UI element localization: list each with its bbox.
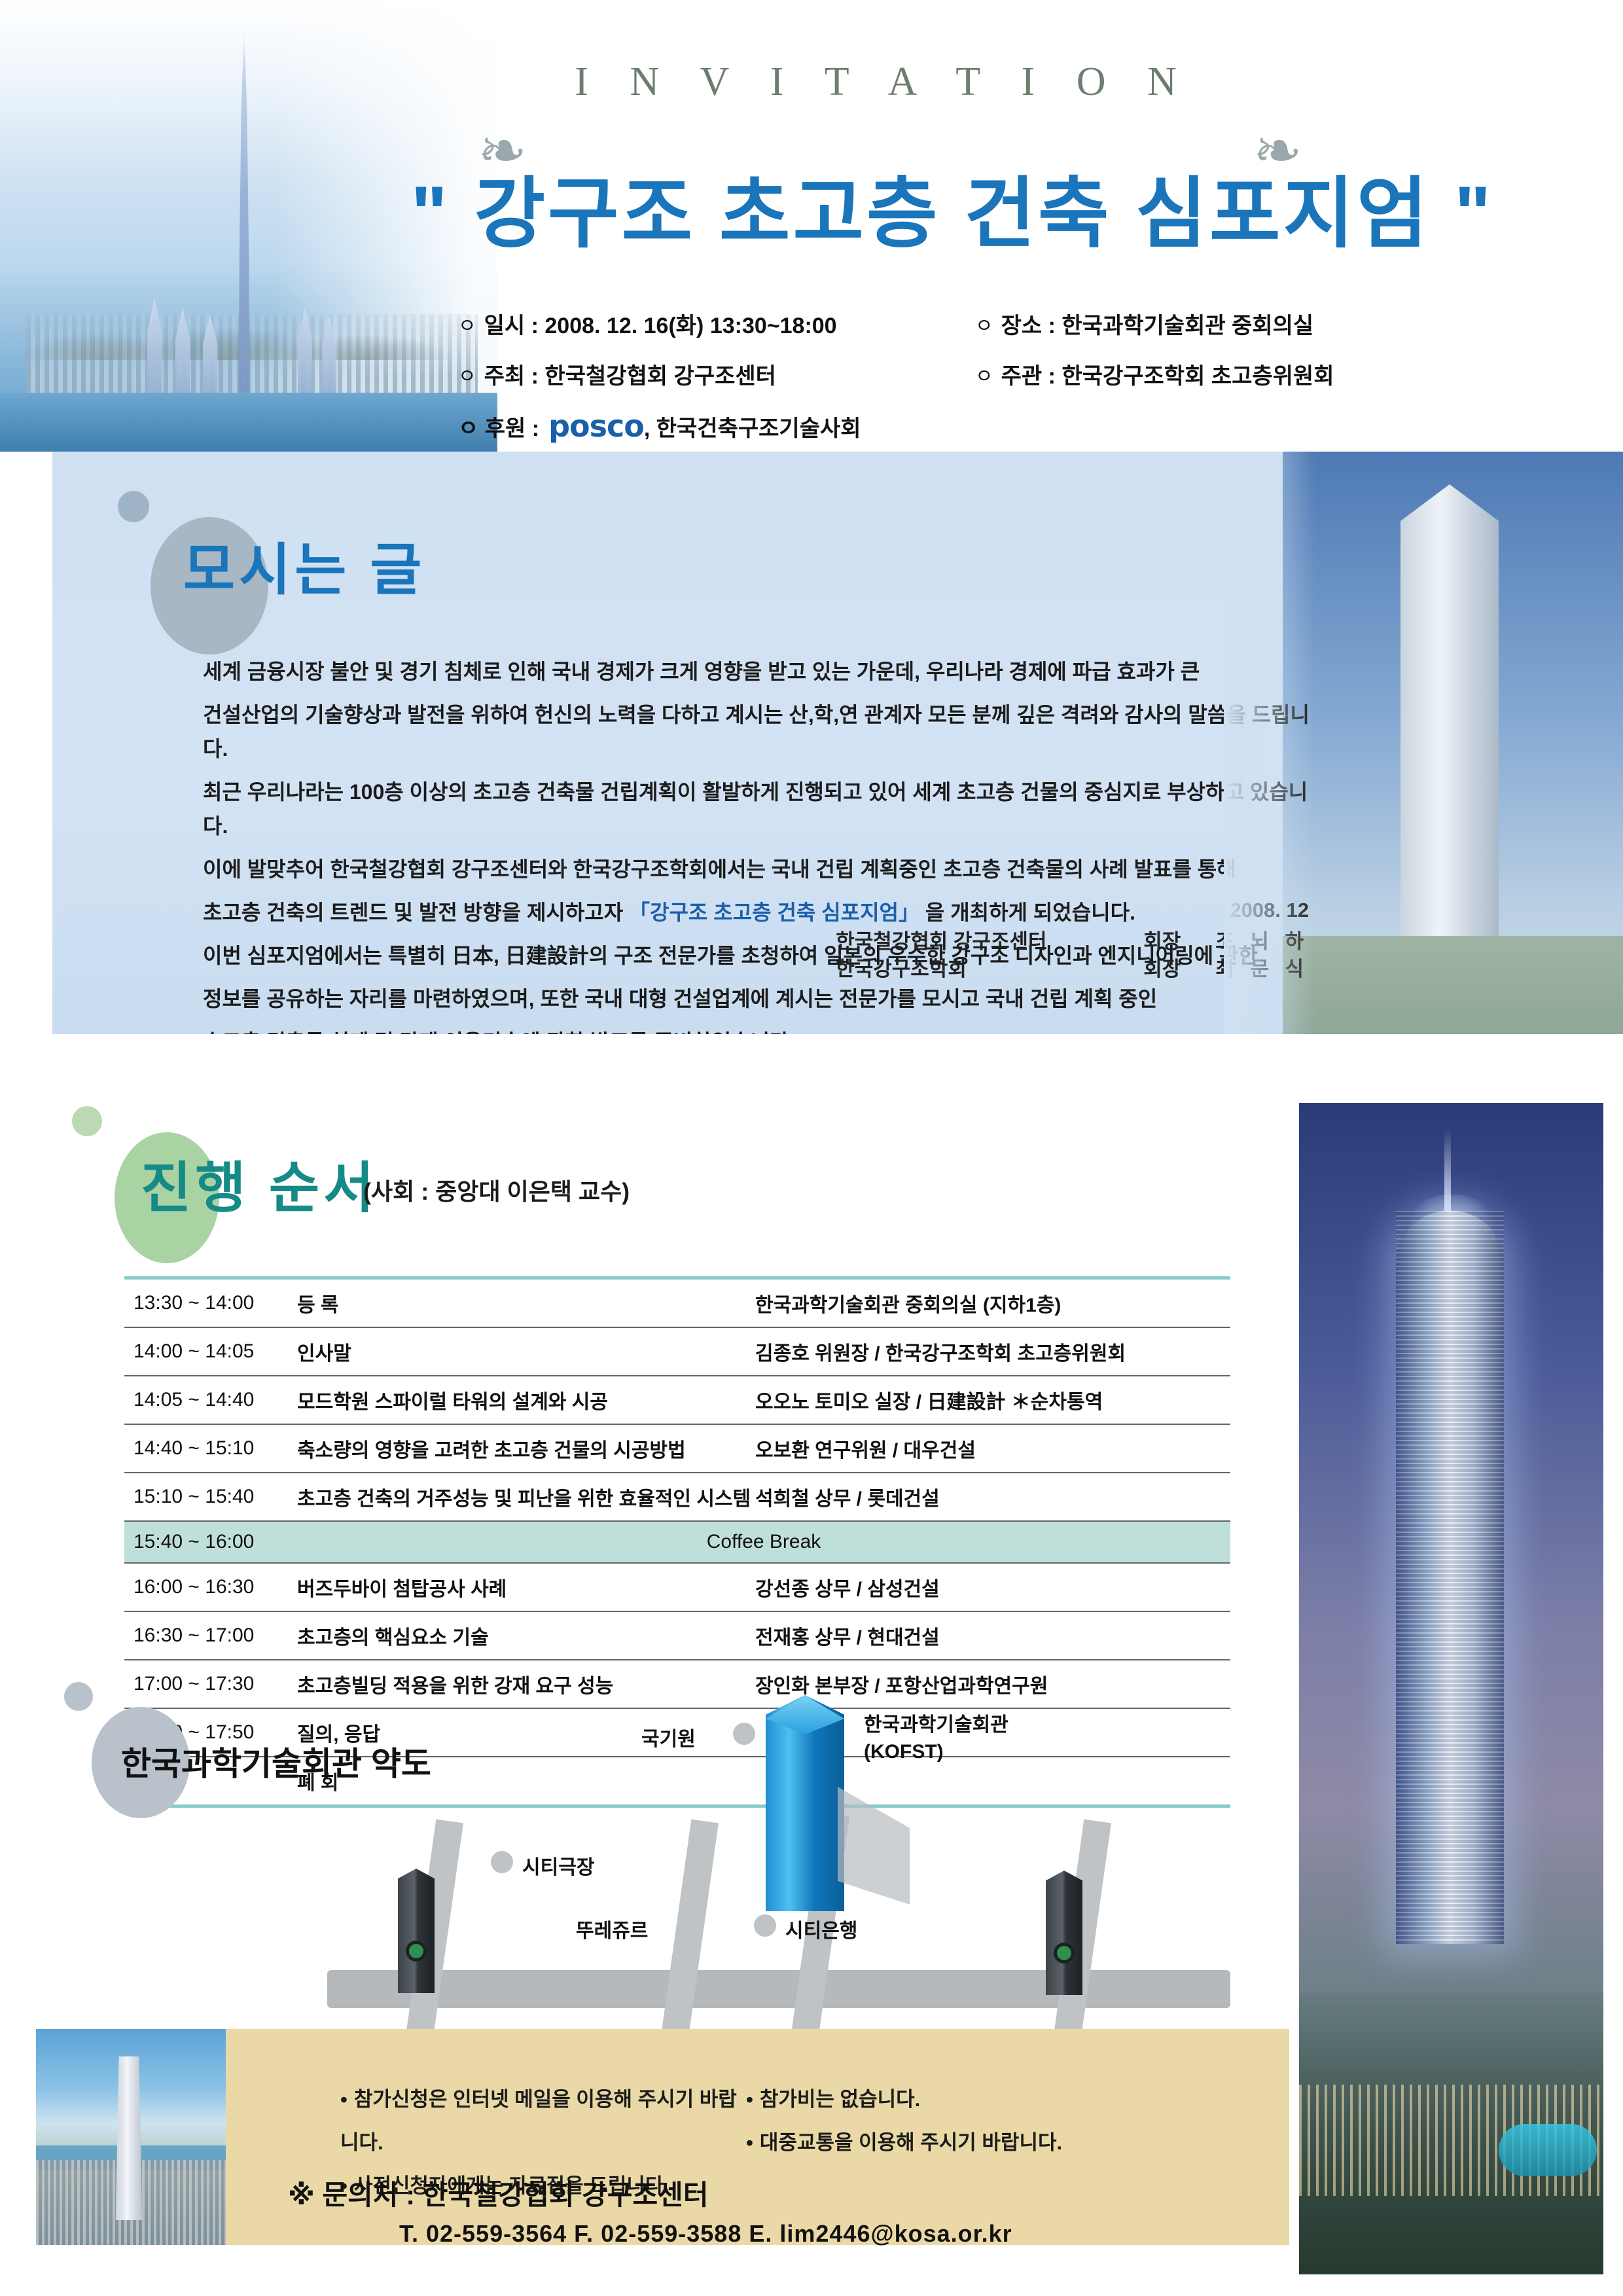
row-speaker: 석희철 상무 / 롯데건설 bbox=[755, 1473, 1230, 1521]
program-badge-small bbox=[72, 1106, 102, 1136]
table-row: 16:30 ~ 17:00 초고층의 핵심요소 기술 전재홍 상무 / 현대건설 bbox=[124, 1611, 1230, 1660]
signatory-org: 한국철강협회 강구조센터 bbox=[836, 928, 1143, 956]
meta-sponsor-prefix: ㅇ 후원 : bbox=[458, 410, 539, 442]
contact-label: ※ 문의처 : 한국철강협회 강구조센터 bbox=[288, 2173, 708, 2213]
table-row: 14:05 ~ 14:40 모드학원 스파이럴 타워의 설계와 시공 오오노 토… bbox=[124, 1376, 1230, 1424]
footer-tower-image bbox=[36, 2029, 226, 2245]
greeting-title: 모시는 글 bbox=[183, 524, 425, 605]
table-row: 13:30 ~ 14:00 등 록 한국과학기술회관 중회의실 (지하1층) bbox=[124, 1278, 1230, 1328]
row-speaker: 김종호 위원장 / 한국강구조학회 초고층위원회 bbox=[755, 1327, 1230, 1376]
meta-organizer-label: 주관 : 한국강구조학회 초고층위원회 bbox=[1001, 358, 1334, 390]
table-row: 14:00 ~ 14:05 인사말 김종호 위원장 / 한국강구조학회 초고층위… bbox=[124, 1327, 1230, 1376]
row-topic: 모드학원 스파이럴 타워의 설계와 시공 bbox=[297, 1376, 755, 1424]
meta-row: ㅇ 주최 : 한국철강협회 강구조센터 ㅇ 주관 : 한국강구조학회 초고층위원… bbox=[458, 358, 1571, 390]
meta-row-sponsor: ㅇ 후원 : posco , 한국건축구조기술사회 bbox=[458, 408, 1571, 444]
meta-sponsor: ㅇ 후원 : posco , 한국건축구조기술사회 bbox=[458, 408, 1309, 444]
meta-organizer: ㅇ 주관 : 한국강구조학회 초고층위원회 bbox=[975, 358, 1492, 390]
table-row-break: 15:40 ~ 16:00 Coffee Break bbox=[124, 1521, 1230, 1563]
road-horizontal bbox=[327, 1970, 1230, 2008]
greeting-paragraph: 최근 우리나라는 100층 이상의 초고층 건축물 건립계획이 활발하게 진행되… bbox=[203, 775, 1315, 843]
page-title: " 강구조 초고층 건축 심포지엄 " bbox=[366, 151, 1538, 262]
meta-host-label: 주최 : 한국철강협회 강구조센터 bbox=[484, 358, 776, 390]
map-dot-tous bbox=[681, 1914, 703, 1937]
row-time: 16:00 ~ 16:30 bbox=[124, 1563, 297, 1611]
footer-note-item: •참가신청은 인터넷 메일을 이용해 주시기 바랍니다. bbox=[340, 2078, 746, 2164]
meta-venue-label: 장소 : 한국과학기술회관 중회의실 bbox=[1001, 308, 1314, 340]
row-speaker: 오보환 연구위원 / 대우건설 bbox=[755, 1424, 1230, 1473]
tower-ground-decor bbox=[1283, 936, 1623, 1034]
row-topic: 초고층의 핵심요소 기술 bbox=[297, 1611, 755, 1660]
row-break-label: Coffee Break bbox=[297, 1521, 1230, 1563]
footer-tower-decor bbox=[113, 2056, 145, 2220]
contact-line: T. 02-559-3564 F. 02-559-3588 E. lim2446… bbox=[399, 2220, 1012, 2248]
twin-tower-image bbox=[1283, 452, 1623, 1034]
subway-station-yeoksam-icon bbox=[1046, 1871, 1082, 1995]
map-label-kukkiwon: 국기원 bbox=[641, 1723, 696, 1751]
twin-tower-decor bbox=[1400, 484, 1499, 942]
footer-note-text: 대중교통을 이용해 주시기 바랍니다. bbox=[760, 2131, 1062, 2154]
row-time: 14:05 ~ 14:40 bbox=[124, 1376, 297, 1424]
program-title: 진행 순서 bbox=[141, 1144, 378, 1223]
invitation-poster: ❧ I N V I T A T I O N ❧ " 강구조 초고층 건축 심포지… bbox=[0, 0, 1623, 2296]
meta-row: ㅇ 일시 : 2008. 12. 16(화) 13:30~18:00 ㅇ 장소 … bbox=[458, 308, 1571, 340]
row-topic: 축소량의 영향을 고려한 초고층 건물의 시공방법 bbox=[297, 1424, 755, 1473]
meta-date: ㅇ 일시 : 2008. 12. 16(화) 13:30~18:00 bbox=[458, 308, 975, 340]
greeting-section: 모시는 글 세계 금융시장 불안 및 경기 침체로 인해 국내 경제가 크게 영… bbox=[52, 452, 1623, 1034]
row-speaker: 한국과학기술회관 중회의실 (지하1층) bbox=[755, 1278, 1230, 1328]
row-topic: 버즈두바이 첨탑공사 사례 bbox=[297, 1563, 755, 1611]
greeting-badge-small bbox=[118, 491, 149, 522]
row-speaker: 강선종 상무 / 삼성건설 bbox=[755, 1563, 1230, 1611]
map-badge-small bbox=[64, 1682, 93, 1711]
footer-note-text: 참가비는 없습니다. bbox=[760, 2088, 920, 2111]
night-water-decor bbox=[1499, 2124, 1597, 2176]
row-topic: 초고층 건축의 거주성능 및 피난을 위한 효율적인 시스템 bbox=[297, 1473, 755, 1521]
greeting-paragraph: 초고층 건축물 설계 및 강재 이용기술에 관한 발표를 준비하였습니다. bbox=[203, 1025, 1315, 1034]
bullet-icon: ㅇ bbox=[975, 310, 993, 338]
bullet-icon: ㅇ bbox=[458, 310, 476, 338]
kofst-building-shadow bbox=[838, 1787, 910, 1905]
map-label-venue: 한국과학기술회관 bbox=[864, 1708, 1008, 1737]
bullet-icon: ㅇ bbox=[975, 360, 993, 389]
greeting-paragraph: 정보를 공유하는 자리를 마련하였으며, 또한 국내 대형 건설업계에 계시는 … bbox=[203, 982, 1315, 1016]
meta-host: ㅇ 주최 : 한국철강협회 강구조센터 bbox=[458, 358, 975, 390]
night-tower-image bbox=[1299, 1103, 1603, 2274]
signatory-org: 한국강구조학회 bbox=[836, 956, 1143, 983]
map-label-venue-abbr: (KOFST) bbox=[864, 1741, 944, 1763]
night-tower-decor bbox=[1396, 1211, 1504, 1944]
meta-sponsor-suffix: , 한국건축구조기술사회 bbox=[644, 410, 861, 442]
invitation-wordmark: ❧ I N V I T A T I O N ❧ bbox=[458, 59, 1309, 105]
footer-note-item: •참가비는 없습니다. bbox=[746, 2078, 1113, 2121]
event-meta: ㅇ 일시 : 2008. 12. 16(화) 13:30~18:00 ㅇ 장소 … bbox=[458, 308, 1571, 452]
map-dot-city-theater bbox=[491, 1851, 513, 1873]
map-label-city-theater: 시티극장 bbox=[522, 1851, 594, 1880]
river-decor bbox=[0, 393, 497, 452]
table-row: 16:00 ~ 16:30 버즈두바이 첨탑공사 사례 강선종 상무 / 삼성건… bbox=[124, 1563, 1230, 1611]
row-time: 14:00 ~ 14:05 bbox=[124, 1327, 297, 1376]
row-time: 15:40 ~ 16:00 bbox=[124, 1521, 297, 1563]
header-section: ❧ I N V I T A T I O N ❧ " 강구조 초고층 건축 심포지… bbox=[0, 0, 1623, 452]
map-dot-kukkiwon bbox=[733, 1723, 755, 1745]
table-row: 14:40 ~ 15:10 축소량의 영향을 고려한 초고층 건물의 시공방법 … bbox=[124, 1424, 1230, 1473]
program-moderator: (사회 : 중앙대 이은택 교수) bbox=[363, 1173, 630, 1207]
map-dot-citibank bbox=[754, 1914, 776, 1937]
highlight-prefix: 초고층 건축의 트렌드 및 발전 방향을 제시하고자 bbox=[203, 901, 629, 924]
footer-notes-right: •참가비는 없습니다. •대중교통을 이용해 주시기 바랍니다. bbox=[746, 2078, 1113, 2164]
row-topic: 등 록 bbox=[297, 1278, 755, 1328]
row-topic: 인사말 bbox=[297, 1327, 755, 1376]
signatory-role: 회장 bbox=[1143, 928, 1215, 956]
row-time: 15:10 ~ 15:40 bbox=[124, 1473, 297, 1521]
greeting-paragraph: 세계 금융시장 불안 및 경기 침체로 인해 국내 경제가 크게 영향을 받고 … bbox=[203, 655, 1315, 689]
row-time: 13:30 ~ 14:00 bbox=[124, 1278, 297, 1328]
row-speaker: 전재홍 상무 / 현대건설 bbox=[755, 1611, 1230, 1660]
table-row: 15:10 ~ 15:40 초고층 건축의 거주성능 및 피난을 위한 효율적인… bbox=[124, 1473, 1230, 1521]
bullet-icon: • bbox=[746, 2088, 753, 2111]
invitation-label: I N V I T A T I O N bbox=[575, 60, 1192, 104]
greeting-paragraph: 이에 발맞추어 한국철강협회 강구조센터와 한국강구조학회에서는 국내 건립 계… bbox=[203, 852, 1315, 886]
row-time: 16:30 ~ 17:00 bbox=[124, 1611, 297, 1660]
row-speaker: 오오노 토미오 실장 / 日建設計 ＊순차통역 bbox=[755, 1376, 1230, 1424]
meta-venue: ㅇ 장소 : 한국과학기술회관 중회의실 bbox=[975, 308, 1492, 340]
bullet-icon: • bbox=[340, 2088, 348, 2111]
row-time: 14:40 ~ 15:10 bbox=[124, 1424, 297, 1473]
footer-note-item: •대중교통을 이용해 주시기 바랍니다. bbox=[746, 2121, 1113, 2164]
bullet-icon: • bbox=[746, 2131, 753, 2154]
map-label-citibank: 시티은행 bbox=[785, 1914, 857, 1943]
subway-station-gangnam-icon bbox=[398, 1869, 435, 1993]
footer-note-text: 참가신청은 인터넷 메일을 이용해 주시기 바랍니다. bbox=[340, 2088, 737, 2154]
greeting-paragraph: 건설산업의 기술향상과 발전을 위하여 헌신의 노력을 다하고 계시는 산,학,… bbox=[203, 698, 1315, 766]
meta-date-label: 일시 : 2008. 12. 16(화) 13:30~18:00 bbox=[484, 308, 837, 340]
posco-logo: posco bbox=[548, 408, 644, 444]
signatory-role: 회장 bbox=[1143, 956, 1215, 983]
bullet-icon: ㅇ bbox=[458, 360, 476, 389]
map-label-tous: 뚜레쥬르 bbox=[576, 1914, 648, 1943]
